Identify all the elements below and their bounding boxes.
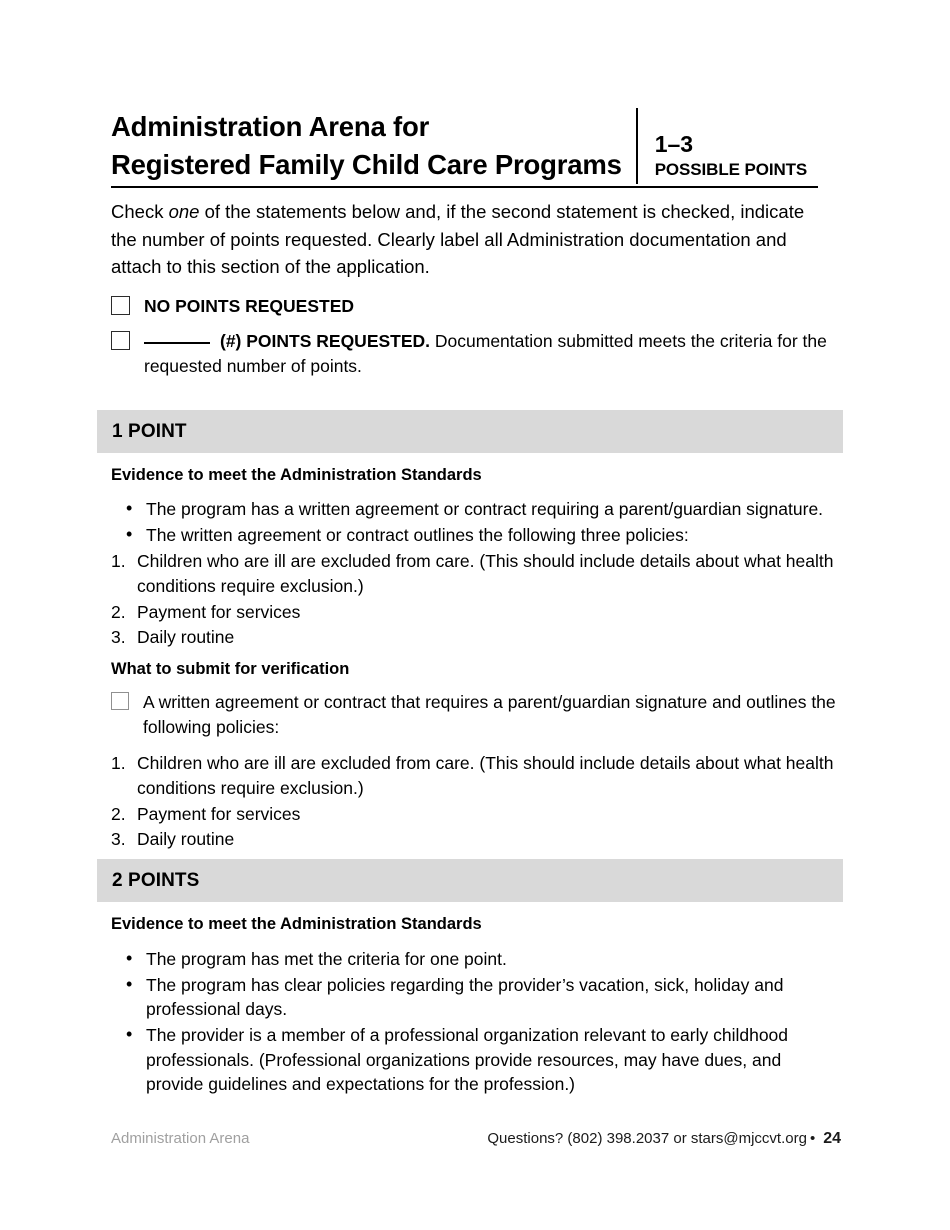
footer-page-number: 24: [823, 1130, 841, 1147]
points-number-blank-field[interactable]: [144, 342, 210, 344]
section-band-2-points: 2 POINTS: [97, 859, 843, 902]
evidence-list-2-points: The program has met the criteria for one…: [111, 947, 841, 1098]
header-title-block: Administration Arena for Registered Fami…: [111, 108, 636, 184]
checkbox-written-agreement[interactable]: [111, 692, 129, 710]
possible-points-caption: POSSIBLE POINTS: [655, 160, 818, 180]
list-item: The program has clear policies regarding…: [146, 973, 841, 1022]
list-item: The written agreement or contract outlin…: [146, 523, 841, 548]
list-item: Daily routine: [111, 827, 841, 852]
intro-emphasis: one: [169, 201, 200, 222]
option-points-requested[interactable]: (#) POINTS REQUESTED. Documentation subm…: [111, 329, 841, 379]
option-no-points-requested[interactable]: NO POINTS REQUESTED: [111, 294, 841, 319]
list-item: Children who are ill are excluded from c…: [111, 751, 841, 800]
option-label-points-bold: (#) POINTS REQUESTED.: [220, 331, 430, 351]
evidence-numbered-1-point: Children who are ill are excluded from c…: [111, 549, 841, 650]
evidence-heading-1-point: Evidence to meet the Administration Stan…: [111, 466, 482, 485]
footer-section-name: Administration Arena: [111, 1130, 249, 1147]
section-band-label-1-point: 1 POINT: [112, 421, 187, 443]
option-label-no-points-text: NO POINTS REQUESTED: [144, 296, 354, 316]
checkbox-no-points-requested[interactable]: [111, 296, 130, 315]
checkbox-points-requested[interactable]: [111, 331, 130, 350]
intro-paragraph: Check one of the statements below and, i…: [111, 198, 831, 281]
footer-contact-block: Questions? (802) 398.2037 or stars@mjccv…: [487, 1130, 841, 1148]
list-item: The program has a written agreement or c…: [146, 497, 841, 522]
submit-checkbox-label: A written agreement or contract that req…: [143, 690, 841, 739]
intro-text-before: Check: [111, 201, 169, 222]
evidence-bullets-2-points: The program has met the criteria for one…: [111, 947, 841, 1097]
list-item: Children who are ill are excluded from c…: [111, 549, 841, 598]
document-page: Administration Arena for Registered Fami…: [0, 0, 950, 1230]
section-band-1-point: 1 POINT: [97, 410, 843, 453]
submit-checkbox-row[interactable]: A written agreement or contract that req…: [111, 690, 841, 739]
footer-contact-text: Questions? (802) 398.2037 or stars@mjccv…: [487, 1130, 807, 1147]
page-title-line-2: Registered Family Child Care Programs: [111, 146, 622, 184]
intro-text-after: of the statements below and, if the seco…: [111, 201, 804, 277]
list-item: Payment for services: [111, 802, 841, 827]
evidence-bullets-1-point: The program has a written agreement or c…: [111, 497, 841, 547]
evidence-list-1-point: The program has a written agreement or c…: [111, 497, 841, 651]
points-request-options: NO POINTS REQUESTED (#) POINTS REQUESTED…: [111, 294, 841, 389]
option-label-no-points: NO POINTS REQUESTED: [144, 294, 354, 319]
page-title-line-1: Administration Arena for: [111, 108, 622, 146]
submit-block-1-point: A written agreement or contract that req…: [111, 690, 841, 853]
page-header: Administration Arena for Registered Fami…: [111, 108, 818, 188]
page-footer: Administration Arena Questions? (802) 39…: [111, 1130, 841, 1148]
submit-numbered-1-point: Children who are ill are excluded from c…: [111, 751, 841, 852]
section-band-label-2-points: 2 POINTS: [112, 870, 199, 892]
list-item: The program has met the criteria for one…: [146, 947, 841, 972]
possible-points-range: 1–3: [655, 131, 818, 159]
header-row: Administration Arena for Registered Fami…: [111, 108, 818, 188]
footer-separator-dot: •: [810, 1130, 815, 1147]
evidence-heading-2-points: Evidence to meet the Administration Stan…: [111, 915, 482, 934]
list-item: Payment for services: [111, 600, 841, 625]
list-item: Daily routine: [111, 625, 841, 650]
list-item: The provider is a member of a profession…: [146, 1023, 841, 1097]
possible-points-block: 1–3 POSSIBLE POINTS: [636, 108, 818, 184]
option-label-points-requested: (#) POINTS REQUESTED. Documentation subm…: [144, 329, 841, 379]
submit-heading-1-point: What to submit for verification: [111, 660, 349, 679]
